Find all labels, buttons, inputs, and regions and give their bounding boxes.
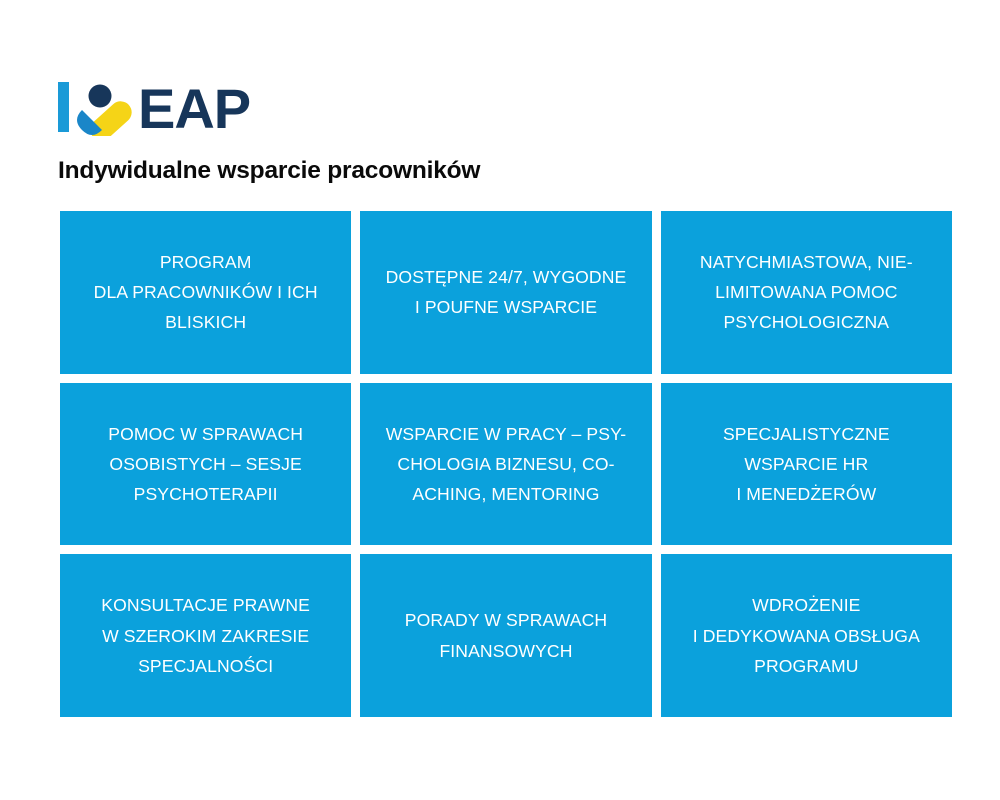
service-tile[interactable]: DOSTĘPNE 24/7, WYGODNE I POUFNE WSPARCIE <box>360 211 651 374</box>
person-heart-icon <box>77 85 136 137</box>
service-tile-label: WSPARCIE W PRACY – PSY- CHOLOGIA BIZNESU… <box>386 419 627 510</box>
service-tile-label: POMOC W SPRAWACH OSOBISTYCH – SESJE PSYC… <box>108 419 303 510</box>
service-tile[interactable]: SPECJALISTYCZNE WSPARCIE HR I MENEDŻERÓW <box>661 383 952 546</box>
logo-wordmark: EAP <box>138 78 250 136</box>
brand-logo: EAP <box>58 78 270 136</box>
service-tile[interactable]: KONSULTACJE PRAWNE W SZEROKIM ZAKRESIE S… <box>60 554 351 717</box>
page-subtitle: Indywidualne wsparcie pracowników <box>58 157 480 185</box>
service-tile-label: KONSULTACJE PRAWNE W SZEROKIM ZAKRESIE S… <box>101 590 310 681</box>
service-tile-label: PORADY W SPRAWACH FINANSOWYCH <box>405 605 607 666</box>
infographic-page: EAP Indywidualne wsparcie pracowników PR… <box>0 0 1000 800</box>
logo-letter-i <box>58 82 69 132</box>
service-tile[interactable]: WDROŻENIE I DEDYKOWANA OBSŁUGA PROGRAMU <box>661 554 952 717</box>
service-tile-label: NATYCHMIASTOWA, NIE- LIMITOWANA POMOC PS… <box>700 247 913 338</box>
service-tile-label: DOSTĘPNE 24/7, WYGODNE I POUFNE WSPARCIE <box>386 262 627 323</box>
service-tile[interactable]: POMOC W SPRAWACH OSOBISTYCH – SESJE PSYC… <box>60 383 351 546</box>
ieap-logo-icon: EAP <box>58 78 270 136</box>
logo-navy-head <box>89 85 112 108</box>
service-tile-label: SPECJALISTYCZNE WSPARCIE HR I MENEDŻERÓW <box>723 419 890 510</box>
service-tile-label: WDROŻENIE I DEDYKOWANA OBSŁUGA PROGRAMU <box>693 590 920 681</box>
service-tile[interactable]: WSPARCIE W PRACY – PSY- CHOLOGIA BIZNESU… <box>360 383 651 546</box>
service-tile[interactable]: PORADY W SPRAWACH FINANSOWYCH <box>360 554 651 717</box>
service-tile[interactable]: NATYCHMIASTOWA, NIE- LIMITOWANA POMOC PS… <box>661 211 952 374</box>
service-tile[interactable]: PROGRAM DLA PRACOWNIKÓW I ICH BLISKICH <box>60 211 351 374</box>
service-tile-label: PROGRAM DLA PRACOWNIKÓW I ICH BLISKICH <box>94 247 318 338</box>
service-tiles-grid: PROGRAM DLA PRACOWNIKÓW I ICH BLISKICH D… <box>60 211 952 717</box>
